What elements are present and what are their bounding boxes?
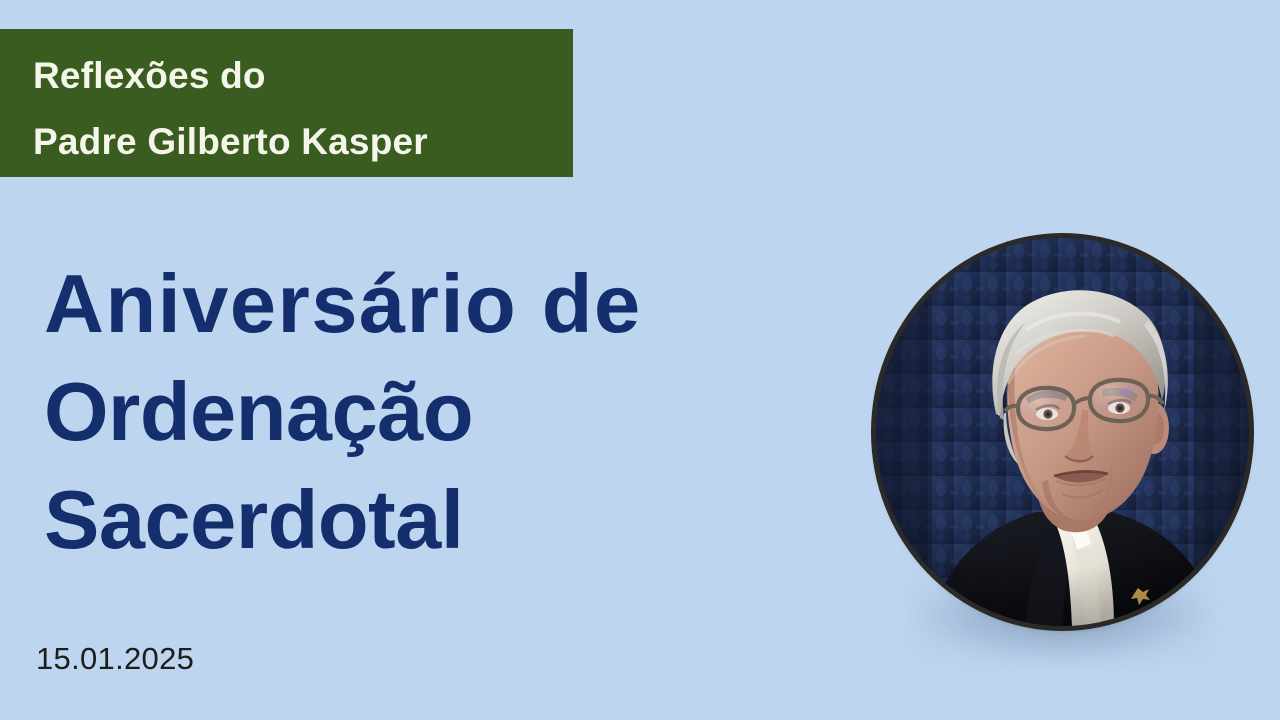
avatar [876, 238, 1249, 626]
portrait-container [876, 238, 1249, 626]
date-label: 15.01.2025 [36, 641, 194, 677]
title-line-1: Aniversário de [44, 250, 804, 358]
page-title: Aniversário de Ordenação Sacerdotal [44, 250, 804, 574]
series-banner-line-1: Reflexões do [33, 43, 573, 109]
portrait-photo-illustration [876, 238, 1249, 626]
title-line-3: Sacerdotal [44, 466, 804, 574]
series-banner-line-2: Padre Gilberto Kasper [33, 109, 573, 175]
slide-canvas: Reflexões do Padre Gilberto Kasper Anive… [0, 0, 1280, 720]
title-line-2: Ordenação [44, 358, 804, 466]
series-banner: Reflexões do Padre Gilberto Kasper [0, 29, 573, 177]
